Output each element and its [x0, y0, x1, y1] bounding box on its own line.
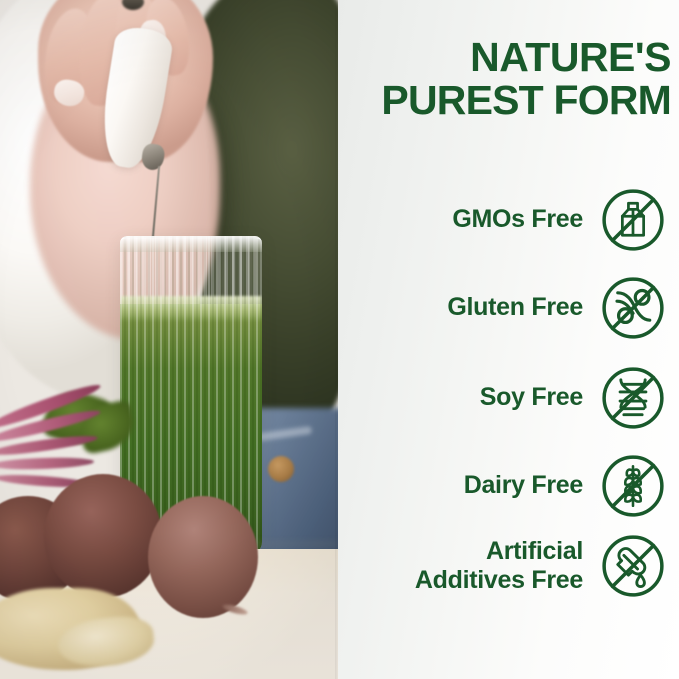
- claim-row-soy-free: Soy Free: [341, 360, 671, 436]
- claim-label: Artificial Additives Free: [415, 537, 583, 596]
- claim-row-dairy-free: Dairy Free: [341, 448, 671, 524]
- product-lifestyle-photo: [0, 0, 338, 679]
- claims-list: GMOs Free: [338, 170, 679, 660]
- claim-row-gluten-free: Gluten Free: [341, 270, 671, 346]
- photo-beet: [44, 474, 162, 598]
- claim-row-gmos-free: GMOs Free: [341, 182, 671, 258]
- photo-denim-button: [268, 456, 294, 482]
- no-dropper-icon: [595, 528, 671, 604]
- page-title: NATURE'S PUREST FORM: [338, 36, 679, 121]
- title-line-1: NATURE'S: [338, 36, 671, 79]
- no-wheat-stalk-icon: [595, 448, 671, 524]
- no-dna-helix-icon: [595, 360, 671, 436]
- photo-glass-rim: [120, 236, 262, 252]
- claims-panel: NATURE'S PUREST FORM GMOs Free: [338, 0, 679, 679]
- title-line-2: PUREST FORM: [338, 79, 671, 122]
- claim-label: Dairy Free: [464, 471, 583, 501]
- claim-label: Gluten Free: [447, 293, 583, 323]
- product-infographic: NATURE'S PUREST FORM GMOs Free: [0, 0, 679, 679]
- photo-beet: [148, 496, 258, 618]
- claim-label: Soy Free: [480, 383, 583, 413]
- claim-label: GMOs Free: [452, 205, 583, 235]
- no-soybean-pod-icon: [595, 270, 671, 346]
- no-milk-carton-icon: [595, 182, 671, 258]
- claim-row-artificial-additives-free: Artificial Additives Free: [341, 528, 671, 604]
